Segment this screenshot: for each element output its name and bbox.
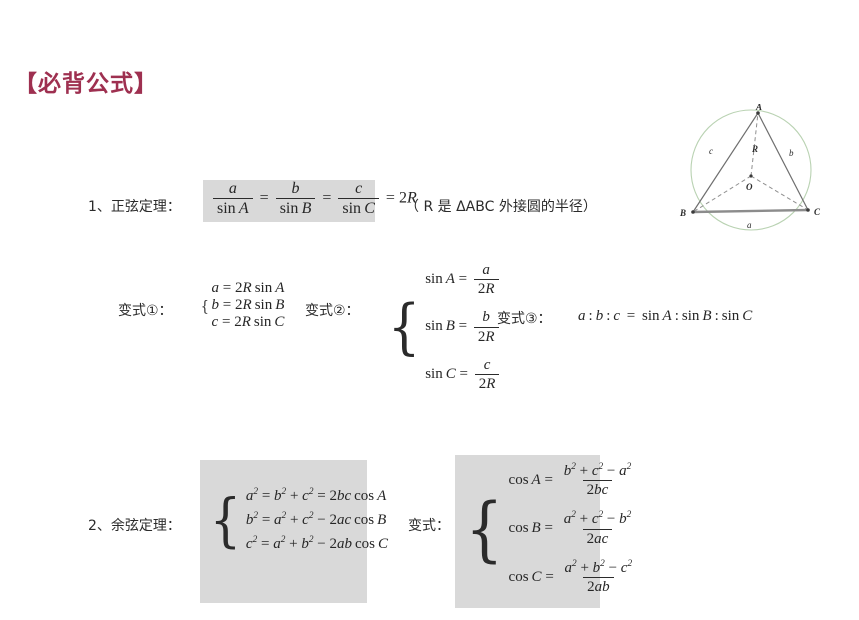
law-of-cosines-system: { a2 = b2 + c2 = 2bc cos A b2 = a2 + c2 … [207, 486, 388, 554]
section-index-1: 1、 [88, 199, 111, 215]
page-title: 【必背公式】 [14, 64, 158, 98]
brace-icon: { [465, 463, 503, 595]
law-of-sines-formula: a sin A = b sin B = c sin C = 2R [210, 180, 417, 218]
variant-3-label: 变式③： [497, 308, 552, 328]
equals-3: = [386, 189, 395, 206]
cosine-variant-label: 变式： [408, 515, 450, 535]
section-index-2: 2、 [88, 518, 111, 534]
denominator-sinC: sin C [338, 198, 379, 217]
cosine-variant-row: cos A = b2 + c2 − a2 2bc [509, 463, 640, 498]
numerator-c: c [351, 180, 366, 198]
label-side-c: c [709, 146, 713, 156]
label-R: R [751, 144, 758, 154]
brace-icon: { [388, 262, 420, 392]
section-title-1: 正弦定理： [111, 199, 181, 215]
variant-3-formula: a : b : c = sin A : sin B : sin C [578, 308, 752, 325]
cosine-variant-row: cos C = a2 + b2 − c2 2ab [509, 560, 640, 595]
law-of-cosines-row: a2 = b2 + c2 = 2bc cos A [246, 488, 388, 505]
vertex-C-dot [806, 208, 810, 212]
variant-1-row: c = 2R sin C [212, 314, 285, 331]
denominator-sinB: sin B [276, 198, 316, 217]
variant-1-row: b = 2R sin B [212, 297, 285, 314]
cosine-variant-row: cos B = a2 + c2 − b2 2ac [509, 511, 640, 546]
label-O: O [746, 182, 753, 192]
label-A: A [755, 104, 762, 112]
variant-1-label: 变式①： [118, 300, 173, 320]
law-of-cosines-row: c2 = a2 + b2 − 2ab cos C [246, 536, 388, 553]
variant-1-row: a = 2R sin A [212, 280, 285, 297]
fraction-a-sinA: a sin A [213, 180, 253, 218]
denominator-sinA: sin A [213, 198, 253, 217]
center-O-dot [749, 174, 752, 177]
vertex-B-dot [691, 210, 695, 214]
brace-icon: { [201, 280, 209, 331]
fraction-c-sinC: c sin C [338, 180, 379, 218]
equals-2: = [322, 189, 331, 206]
cosine-variant-system: { cos A = b2 + c2 − a2 2bc cos B = a2 + … [462, 463, 639, 595]
variant-2-system: { sin A = a2R sin B = b2R sin C = c2R [385, 262, 502, 392]
equals-1: = [260, 189, 269, 206]
variant-1-system: { a = 2R sin A b = 2R sin B c = 2R sin C [200, 280, 284, 331]
variant-2-row: sin C = c2R [425, 357, 502, 392]
side-a-line [693, 210, 808, 212]
law-of-sines-note: （ R 是 ΔABC 外接圆的半径） [405, 196, 597, 216]
variant-2-row: sin A = a2R [425, 262, 502, 297]
side-c-line [693, 113, 758, 212]
law-of-cosines-label: 2、余弦定理： [88, 515, 181, 535]
label-side-b: b [789, 148, 794, 158]
label-C: C [814, 207, 821, 217]
brace-icon: { [210, 486, 241, 554]
radius-OB-line [693, 176, 751, 212]
variant-2-label: 变式②： [305, 300, 360, 320]
numerator-b: b [288, 180, 304, 198]
law-of-cosines-row: b2 = a2 + c2 − 2ac cos B [246, 512, 388, 529]
label-B: B [679, 208, 686, 218]
fraction-b-sinB: b sin B [276, 180, 316, 218]
variant-2-row: sin B = b2R [425, 309, 502, 344]
section-title-2: 余弦定理： [111, 518, 181, 534]
law-of-sines-label: 1、正弦定理： [88, 196, 181, 216]
circumscribed-circle-diagram: A B C O R c b a [668, 104, 834, 236]
numerator-a: a [225, 180, 241, 198]
label-side-a: a [747, 220, 752, 230]
